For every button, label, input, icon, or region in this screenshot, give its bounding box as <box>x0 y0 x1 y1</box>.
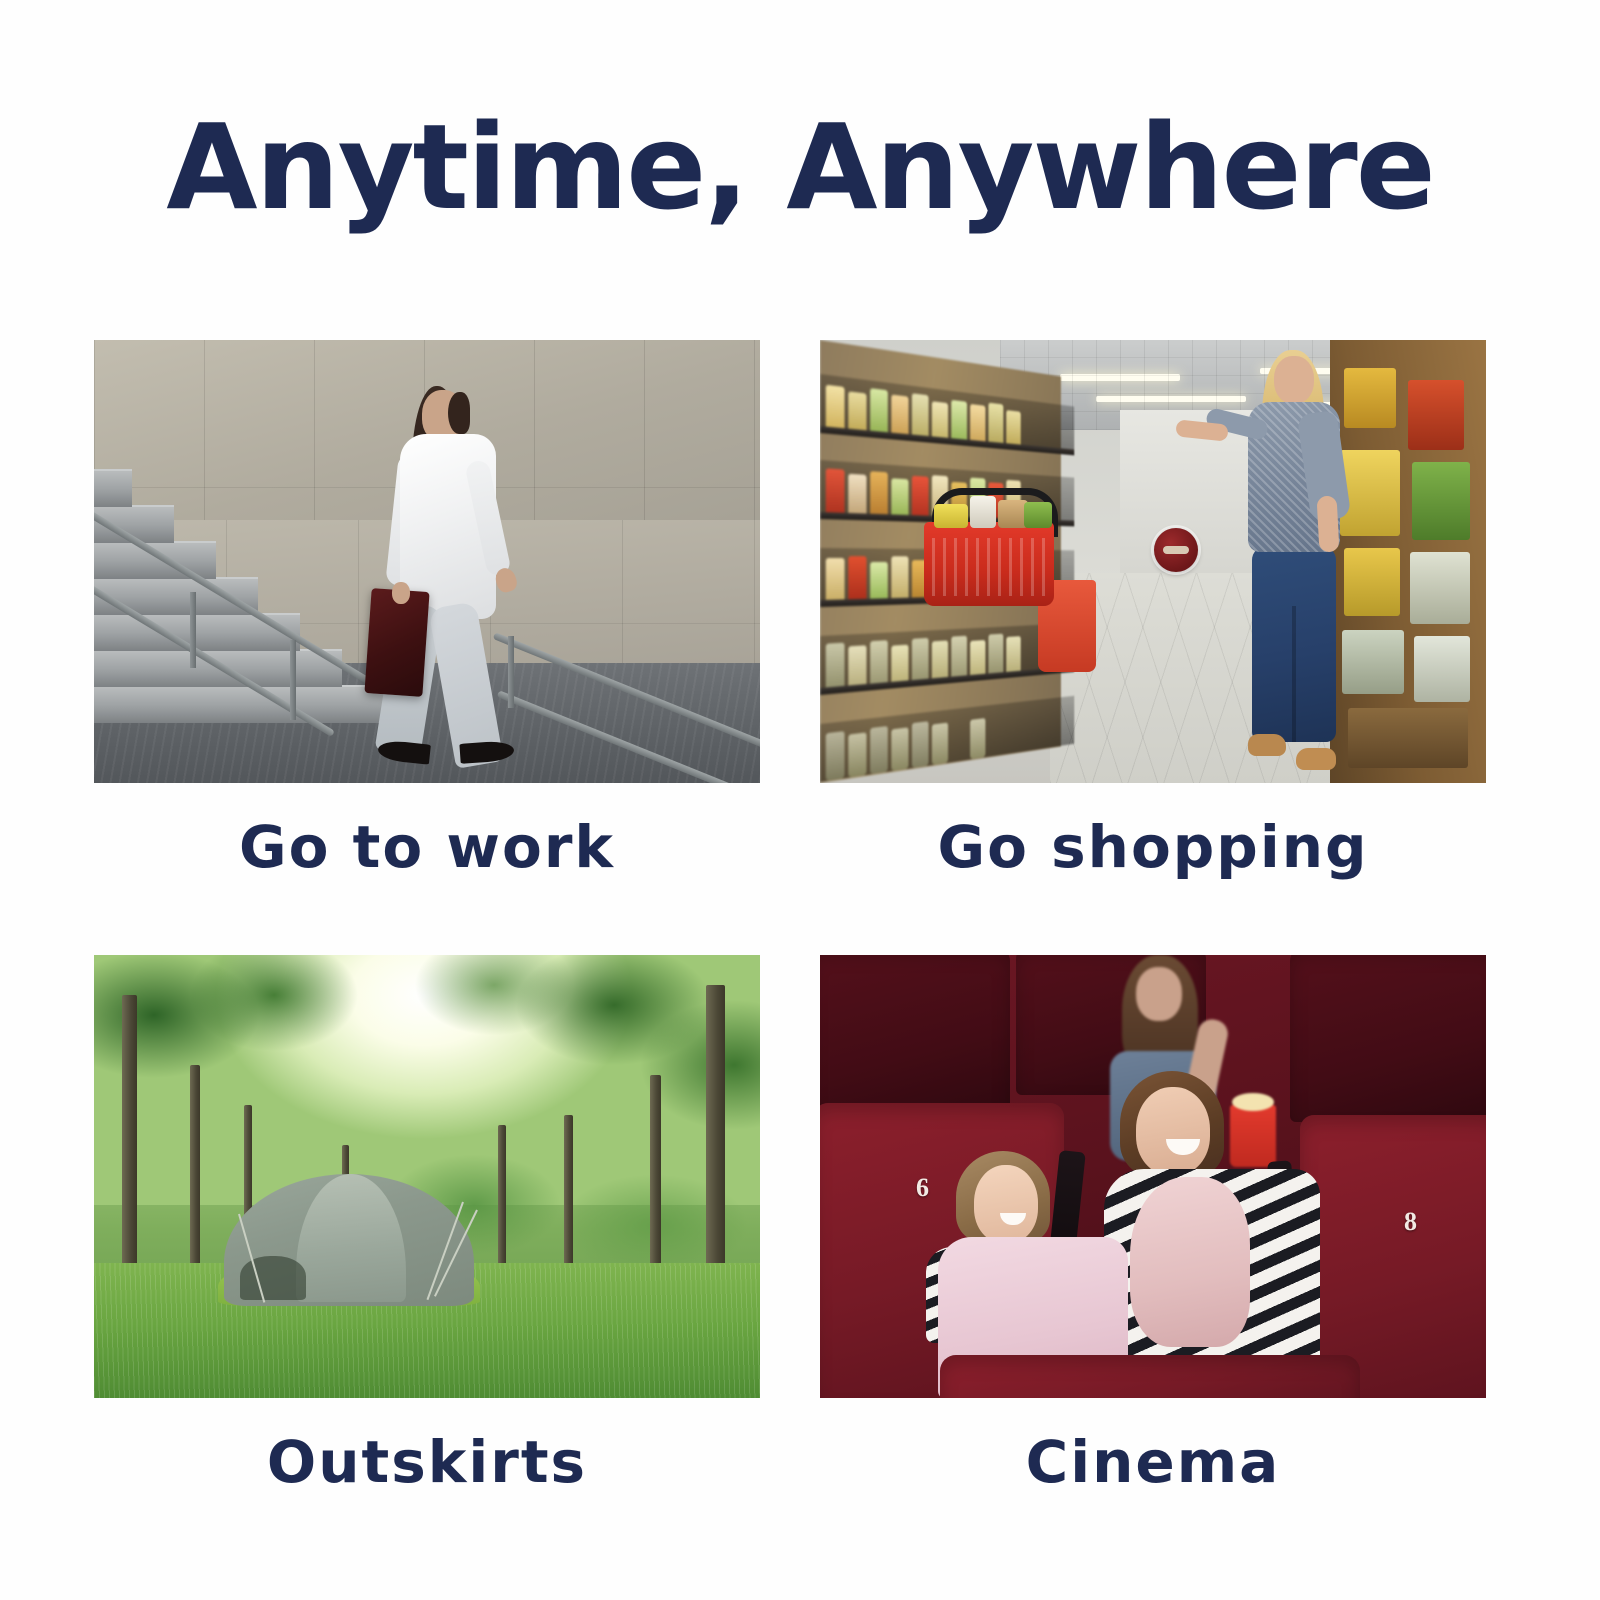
cinema-seat-front-row <box>940 1355 1360 1398</box>
head <box>1136 967 1182 1021</box>
forearm-basket-side <box>1317 496 1340 553</box>
tree-trunk <box>122 995 137 1306</box>
head <box>974 1165 1038 1243</box>
stairs-photo <box>94 340 760 783</box>
card-caption-go-shopping: Go shopping <box>820 817 1486 878</box>
head <box>1274 356 1314 404</box>
supermarket-photo <box>820 340 1486 783</box>
pink-scarf <box>1130 1177 1250 1347</box>
handrail-post-b <box>190 592 196 668</box>
cinema-seat-back <box>820 955 1010 1117</box>
jeans <box>1252 546 1336 742</box>
red-shopping-basket <box>924 522 1054 606</box>
tent-doorway <box>240 1256 306 1300</box>
businesswoman-figure <box>356 390 556 780</box>
page-title: Anytime, Anywhere <box>0 108 1600 226</box>
campsite-photo <box>94 955 760 1398</box>
shopper-figure <box>1200 356 1390 781</box>
card-caption-outskirts: Outskirts <box>94 1432 760 1493</box>
portfolio-bag <box>364 588 429 697</box>
shoe-right <box>459 740 514 764</box>
hair-front <box>448 392 470 434</box>
seat-number-6: 6 <box>916 1173 929 1203</box>
activity-card-cinema[interactable]: 6 8 <box>820 955 1486 1493</box>
shoe-left <box>1248 734 1286 756</box>
hand-left <box>392 582 410 604</box>
cinema-photo: 6 8 <box>820 955 1486 1398</box>
activity-card-outskirts[interactable]: Outskirts <box>94 955 760 1493</box>
shoe-right <box>1296 748 1336 770</box>
activity-card-go-shopping[interactable]: Go shopping <box>820 340 1486 878</box>
card-caption-go-to-work: Go to work <box>94 817 760 878</box>
handrail-post-a <box>290 640 296 720</box>
dome-tent <box>204 1156 494 1306</box>
head <box>1136 1087 1210 1175</box>
card-caption-cinema: Cinema <box>820 1432 1486 1493</box>
activity-card-go-to-work[interactable]: Go to work <box>94 340 760 878</box>
shelf-price-badge <box>1154 528 1198 572</box>
seat-number-8: 8 <box>1404 1207 1417 1237</box>
poster: Anytime, Anywhere <box>0 0 1600 1600</box>
tree-trunk <box>706 985 725 1310</box>
shoe-left <box>377 739 431 764</box>
activity-grid: Go to work <box>94 340 1508 1420</box>
